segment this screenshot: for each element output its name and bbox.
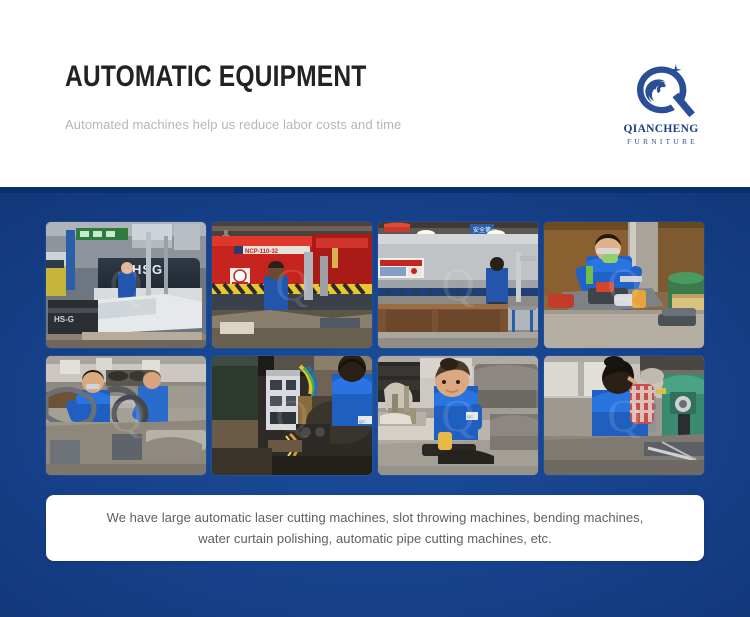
svg-text:QC: QC <box>359 419 365 424</box>
caption-card: We have large automatic laser cutting ma… <box>46 495 704 561</box>
photo-sewing-machine[interactable]: QC Q <box>378 356 538 475</box>
photo-press-brake-machine[interactable]: NCP-110-32 <box>212 222 372 348</box>
page-header: AUTOMATIC EQUIPMENT Automated machines h… <box>0 0 750 187</box>
caption-line-1: We have large automatic laser cutting ma… <box>107 510 644 525</box>
automatic-equipment-section: AUTOMATIC EQUIPMENT Automated machines h… <box>0 0 750 617</box>
logo-brand-name: QIANCHENG <box>618 123 704 136</box>
caption-text: We have large automatic laser cutting ma… <box>85 507 666 549</box>
photo-welding-station-image: QC <box>212 356 372 475</box>
logo-brand-category: FURNITURE <box>618 136 704 147</box>
gallery-section: HSG HS-G Q <box>0 187 750 617</box>
photo-bending-machine-image: 安全第一 <box>378 222 538 348</box>
header-text-block: AUTOMATIC EQUIPMENT Automated machines h… <box>65 60 685 160</box>
photo-press-brake-machine-image: NCP-110-32 <box>212 222 372 348</box>
page-subtitle: Automated machines help us reduce labor … <box>65 94 685 134</box>
photo-laser-cutting-machine[interactable]: HSG HS-G Q <box>46 222 206 348</box>
photo-grinding-polishing[interactable]: Q <box>544 222 704 348</box>
photo-grinding-polishing-image <box>544 222 704 348</box>
photo-laser-cutting-machine-image: HSG HS-G <box>46 222 206 348</box>
photo-bending-machine[interactable]: 安全第一 <box>378 222 538 348</box>
photo-drill-press-image <box>544 356 704 475</box>
photo-sewing-machine-image: QC <box>378 356 538 475</box>
photo-grid-row-2: Q <box>46 356 704 475</box>
qiancheng-q-bird-icon <box>618 62 704 122</box>
svg-text:HS-G: HS-G <box>54 315 74 324</box>
photo-drill-press[interactable]: Q <box>544 356 704 475</box>
brand-logo: QIANCHENG FURNITURE <box>618 62 704 154</box>
page-title: AUTOMATIC EQUIPMENT <box>65 60 573 94</box>
photo-frame-assembly[interactable]: Q <box>46 356 206 475</box>
photo-welding-station[interactable]: QC Q <box>212 356 372 475</box>
section-top-band <box>0 187 750 193</box>
caption-line-2: water curtain polishing, automatic pipe … <box>198 531 552 546</box>
photo-frame-assembly-image <box>46 356 206 475</box>
photo-grid-row-1: HSG HS-G Q <box>46 222 704 348</box>
svg-text:QC: QC <box>467 414 473 419</box>
svg-text:NCP-110-32: NCP-110-32 <box>245 249 279 255</box>
